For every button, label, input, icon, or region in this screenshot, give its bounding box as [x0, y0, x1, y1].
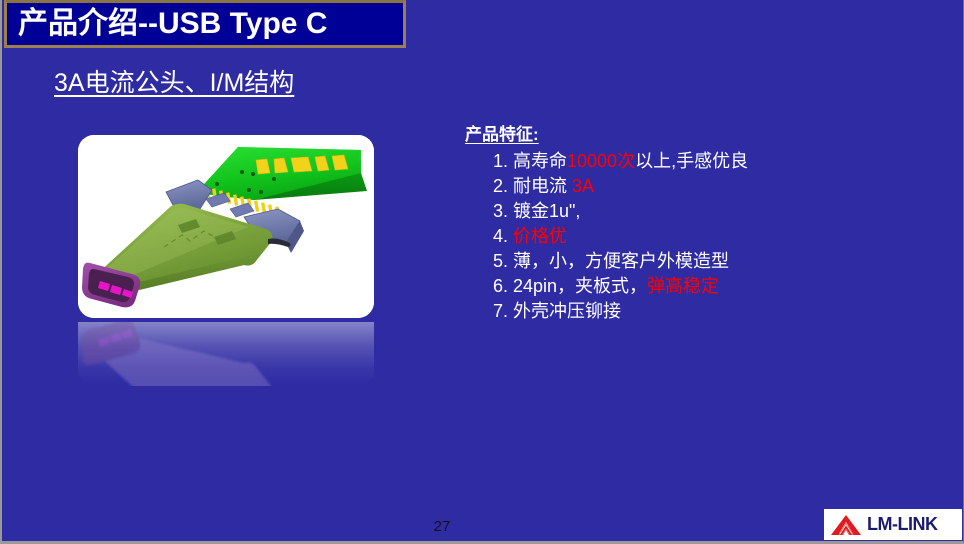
- feature-text-segment: 以上,手感优良: [635, 151, 748, 171]
- page-title: 产品介绍--USB Type C: [18, 9, 327, 39]
- feature-text-segment: 24pin，夹板式，: [513, 276, 647, 296]
- feature-item: 7. 外壳冲压铆接: [493, 299, 885, 324]
- product-features-block: 产品特征: 1. 高寿命10000次以上,手感优良2. 耐电流 3A3. 镀金1…: [465, 120, 885, 324]
- feature-number: 6.: [493, 276, 513, 296]
- feature-text-segment: 3A: [572, 176, 594, 196]
- lm-link-triangle-icon: [830, 513, 862, 537]
- feature-number: 2.: [493, 176, 513, 196]
- feature-item: 2. 耐电流 3A: [493, 174, 885, 199]
- feature-text-segment: 耐电流: [513, 176, 572, 196]
- feature-item: 5. 薄，小，方便客户外模造型: [493, 249, 885, 274]
- feature-number: 7.: [493, 301, 513, 321]
- features-heading: 产品特征:: [465, 120, 539, 145]
- feature-number: 1.: [493, 151, 513, 171]
- feature-text-segment: 镀金1u",: [513, 201, 580, 221]
- page-number: 27: [2, 518, 882, 535]
- product-image-card: [78, 135, 374, 318]
- feature-text-segment: 高寿命: [513, 151, 567, 171]
- feature-number: 5.: [493, 251, 513, 271]
- feature-item: 3. 镀金1u",: [493, 199, 885, 224]
- feature-item: 4. 价格优: [493, 224, 885, 249]
- slide-subtitle: 3A电流公头、I/M结构: [54, 63, 294, 99]
- logo-text: LM-LINK: [867, 514, 937, 535]
- feature-item: 1. 高寿命10000次以上,手感优良: [493, 149, 885, 174]
- features-list: 1. 高寿命10000次以上,手感优良2. 耐电流 3A3. 镀金1u",4. …: [465, 149, 885, 324]
- company-logo: LM-LINK: [824, 509, 962, 540]
- slide-title-box: 产品介绍--USB Type C: [4, 0, 406, 48]
- feature-item: 6. 24pin，夹板式，弹高稳定: [493, 274, 885, 299]
- feature-text-segment: 价格优: [513, 226, 567, 246]
- usb-type-c-connector-render: [78, 135, 374, 318]
- reflection-shape: [78, 322, 374, 386]
- feature-text-segment: 弹高稳定: [647, 276, 719, 296]
- slide-canvas: 产品介绍--USB Type C 3A电流公头、I/M结构: [0, 0, 964, 544]
- feature-text-segment: 外壳冲压铆接: [513, 301, 621, 321]
- feature-number: 3.: [493, 201, 513, 221]
- feature-number: 4.: [493, 226, 513, 246]
- feature-text-segment: 10000次: [567, 151, 635, 171]
- product-image-reflection: [78, 322, 374, 386]
- feature-text-segment: 薄，小，方便客户外模造型: [513, 251, 729, 271]
